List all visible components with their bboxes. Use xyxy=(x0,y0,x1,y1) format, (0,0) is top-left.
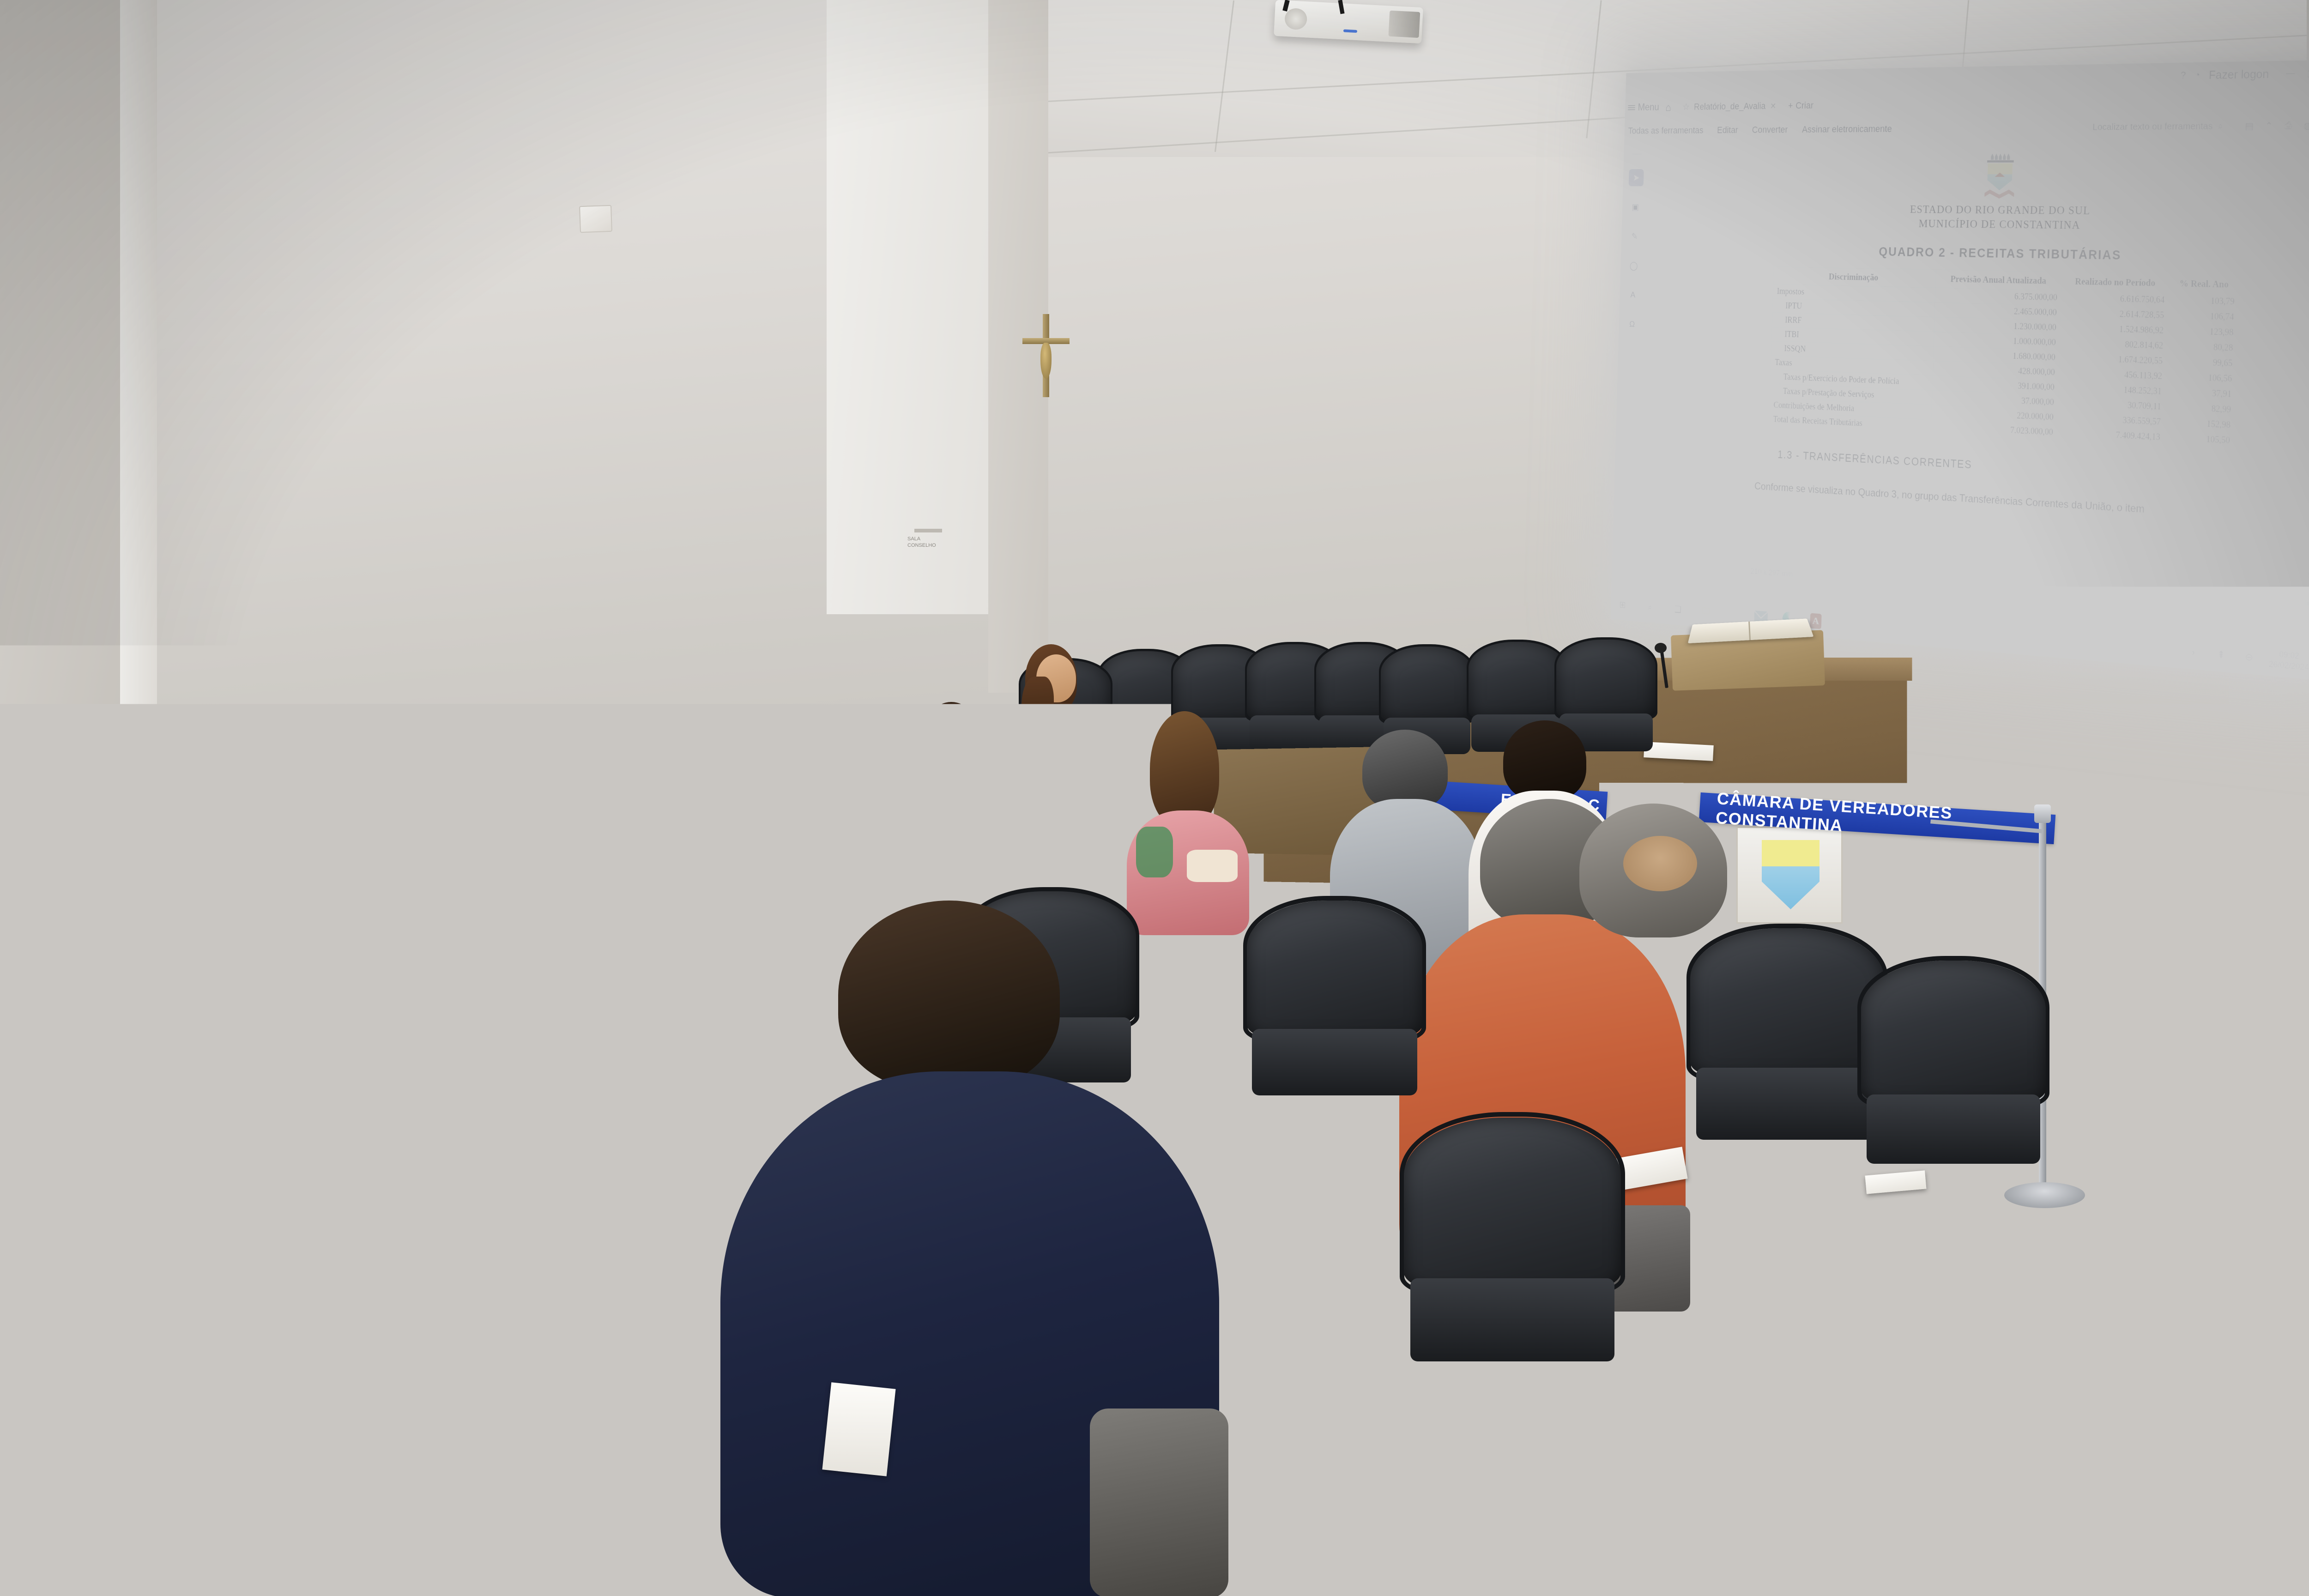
page-size-label: 210 x 297 mm xyxy=(1750,567,1793,579)
wall-note-text: SALACONSELHO xyxy=(907,536,943,554)
head xyxy=(934,716,976,767)
hair xyxy=(838,901,1060,1090)
print-icon[interactable]: ⎙ xyxy=(2284,120,2292,132)
hair xyxy=(1178,762,1265,845)
light-switch xyxy=(579,205,612,233)
menu-label: Menu xyxy=(1638,102,1659,113)
trousers xyxy=(1090,1409,1228,1596)
col-pct: % Real. Ano xyxy=(2169,274,2240,295)
chair xyxy=(1861,961,2046,1191)
cell-percent: 99,65 xyxy=(2166,354,2237,371)
zoom-out-icon[interactable]: ⊖ xyxy=(2304,624,2309,636)
cell-percent: 105,50 xyxy=(2164,430,2234,448)
arm xyxy=(434,1159,573,1270)
person-light-shirt xyxy=(1141,762,1298,1002)
star-icon[interactable]: ☆ xyxy=(1682,102,1690,112)
logon-button[interactable]: Fazer logon xyxy=(2209,67,2269,82)
chrome-icon[interactable] xyxy=(1727,607,1740,622)
bell-icon[interactable]: ◔ xyxy=(2194,69,2200,81)
hair xyxy=(806,739,901,829)
task-view-icon[interactable]: ❑ xyxy=(1671,601,1685,618)
save-icon[interactable]: ▤ xyxy=(2245,121,2254,132)
hair xyxy=(1362,730,1448,810)
wall-column xyxy=(988,0,1048,693)
all-tools-button[interactable]: Todas as ferramentas xyxy=(1628,125,1704,136)
coat-of-arms-icon xyxy=(1741,142,2286,201)
stanchion-top xyxy=(2034,804,2051,823)
search-input[interactable]: Localizar texto ou ferramentas ⌕ xyxy=(2092,121,2229,133)
head xyxy=(360,801,448,905)
crucifix xyxy=(1043,314,1049,397)
rail-divider xyxy=(1632,154,1642,155)
plus-icon: + xyxy=(1788,100,1793,111)
cell-percent: 106,74 xyxy=(2168,308,2238,325)
edit-button[interactable]: Editar xyxy=(1717,125,1738,136)
microphone-head xyxy=(1655,643,1667,653)
wall-niche xyxy=(827,0,993,614)
tab-title: Relatório_de_Avalia xyxy=(1694,101,1766,112)
menu-button[interactable]: Menu xyxy=(1628,102,1659,114)
chair xyxy=(0,1048,203,1335)
collar-stripe xyxy=(810,820,898,838)
pdf-page[interactable]: ESTADO DO RIO GRANDE DO SUL MUNICÍPIO DE… xyxy=(1729,142,2285,659)
text-box-icon[interactable]: A xyxy=(1625,286,1640,304)
acrobat-icon[interactable]: A xyxy=(1810,613,1821,629)
col-realizado: Realizado no Período xyxy=(2061,272,2170,292)
person-navy-polo-front xyxy=(720,901,1219,1596)
cloud-icon[interactable]: ◍ xyxy=(2303,120,2309,132)
torso xyxy=(1011,705,1106,821)
collar-stripe xyxy=(838,1073,1055,1106)
rotate-icon[interactable]: ↻ xyxy=(2305,570,2309,582)
search-placeholder: Localizar texto ou ferramentas xyxy=(2092,121,2213,133)
new-tab-label: Criar xyxy=(1795,100,1813,111)
table-title: QUADRO 2 - RECEITAS TRIBUTÁRIAS xyxy=(1739,243,2282,266)
person-speaker xyxy=(1011,644,1113,820)
projected-screen: ? ◔ Fazer logon — ▢ ✕ Menu ⌂ ☆ Relatório… xyxy=(1611,60,2309,680)
paper-on-chair xyxy=(822,1382,895,1476)
signature-icon[interactable]: Ω xyxy=(1625,315,1640,333)
select-cursor-icon[interactable]: ➤ xyxy=(1629,169,1644,186)
convert-button[interactable]: Converter xyxy=(1752,124,1788,135)
receitas-table: Discriminação Previsão Anual Atualizada … xyxy=(1769,266,2240,449)
search-icon[interactable]: ⌕ xyxy=(1643,599,1657,616)
comment-bubble-icon[interactable]: ◯ xyxy=(1626,257,1641,275)
highlighter-icon[interactable]: ✎ xyxy=(1627,228,1642,245)
taskbar-clock[interactable]: 09:02 26/02/2024 xyxy=(2268,648,2309,673)
maximize-button[interactable]: ▢ xyxy=(2307,67,2309,79)
cell-percent: 106,56 xyxy=(2166,369,2236,387)
chevron-down-icon[interactable]: ⌄ xyxy=(2306,543,2309,555)
minimize-button[interactable]: — xyxy=(2285,68,2295,79)
file-explorer-icon[interactable]: 🗀 xyxy=(1699,604,1713,620)
network-icon[interactable]: ⇞ xyxy=(2212,646,2230,664)
bag-strap xyxy=(81,1335,159,1473)
bald-spot xyxy=(1623,836,1697,891)
chevron-up-icon[interactable]: ⌃ xyxy=(2307,516,2309,528)
cell-percent: 80,28 xyxy=(2167,339,2237,356)
cell-percent: 103,79 xyxy=(2169,293,2239,310)
section-heading: 1.3 - TRANSFERÊNCIAS CORRENTES xyxy=(1777,449,2275,488)
fit-page-icon[interactable]: ▣ xyxy=(2304,597,2309,609)
shirt-graphic xyxy=(1058,737,1085,761)
person-blue-polo xyxy=(175,757,554,1385)
cell-percent: 123,98 xyxy=(2167,323,2238,340)
search-icon[interactable]: ⌕ xyxy=(2218,121,2223,132)
start-icon[interactable]: ⊞ xyxy=(1616,597,1630,613)
torso xyxy=(1141,835,1298,1006)
torso xyxy=(175,896,554,1362)
annotation-toolbar: ➤ ▣ ✎ ◯ A Ω xyxy=(1619,149,1648,410)
share-icon[interactable]: ⌃ xyxy=(2265,120,2273,132)
hamburger-icon xyxy=(1628,104,1635,111)
close-icon[interactable]: ✕ xyxy=(1770,101,1777,111)
sticky-note-icon[interactable]: ▣ xyxy=(1628,199,1643,216)
person-grey-hair xyxy=(1524,804,1783,1164)
meeting-room-photo: SALACONSELHO ? ◔ Fazer logon — ▢ ✕ xyxy=(0,0,2309,1596)
col-previsao: Previsão Anual Atualizada xyxy=(1935,270,2062,290)
home-icon[interactable]: ⌂ xyxy=(1665,101,1671,114)
stanchion-base xyxy=(1896,1254,1970,1278)
help-icon[interactable]: ? xyxy=(2180,69,2186,81)
show-hidden-icon[interactable]: › xyxy=(2185,643,2202,662)
body-paragraph: Conforme se visualiza no Quadro 3, no gr… xyxy=(1754,479,2250,524)
document-header: ESTADO DO RIO GRANDE DO SUL MUNICÍPIO DE… xyxy=(1740,201,2284,235)
wall-sign-plate xyxy=(914,529,942,532)
sign-button[interactable]: Assinar eletronicamente xyxy=(1802,123,1892,135)
hair xyxy=(1503,720,1586,801)
document-tab[interactable]: ☆ Relatório_de_Avalia ✕ xyxy=(1677,97,1782,116)
new-tab-button[interactable]: + Criar xyxy=(1788,100,1813,111)
sound-icon[interactable]: ⊖ xyxy=(2241,648,2258,666)
